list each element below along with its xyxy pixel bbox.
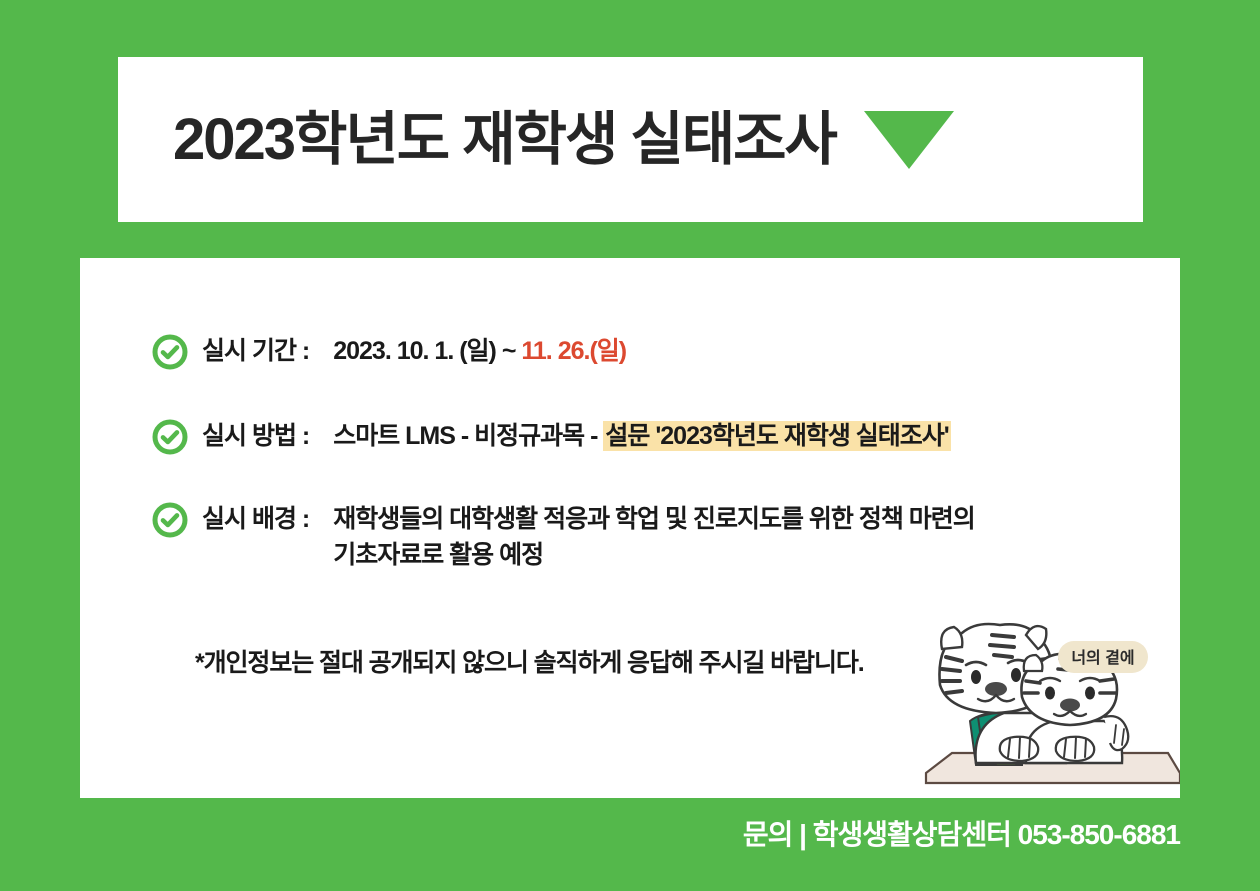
method-path-text: 스마트 LMS - 비정규과목 - [333,422,603,450]
info-row-period: 실시 기간 : 2023. 10. 1. (일) ~ 11. 26.(일) [152,333,1162,370]
info-row-purpose: 실시 배경 : 재학생들의 대학생활 적응과 학업 및 진로지도를 위한 정책 … [152,501,1162,574]
check-circle-icon [152,419,188,455]
check-circle-icon [152,334,188,370]
period-start-text: 2023. 10. 1. (일) ~ [333,337,521,365]
info-row-value-period: 2023. 10. 1. (일) ~ 11. 26.(일) [333,333,626,369]
method-survey-name-text: 설문 '2023학년도 재학생 실태조사' [603,421,950,451]
purpose-line-1: 재학생들의 대학생활 적응과 학업 및 진로지도를 위한 정책 마련의 [333,501,975,537]
info-row-label-purpose: 실시 배경 : [202,501,309,537]
speech-bubble-text: 너의 곁에 [1071,649,1134,667]
info-row-value-purpose: 재학생들의 대학생활 적응과 학업 및 진로지도를 위한 정책 마련의 기초자료… [333,501,975,574]
triangle-down-icon [864,111,954,169]
main-panel: 실시 기간 : 2023. 10. 1. (일) ~ 11. 26.(일) 실시… [80,258,1180,798]
purpose-line-2: 기초자료로 활용 예정 [333,537,975,573]
info-row-value-method: 스마트 LMS - 비정규과목 - 설문 '2023학년도 재학생 실태조사' [333,418,951,454]
info-rows: 실시 기간 : 2023. 10. 1. (일) ~ 11. 26.(일) 실시… [152,333,1162,574]
footer-contact: 문의 | 학생생활상담센터 053-850-6881 [743,813,1180,853]
tiger-mascots-illustration: 너의 곁에 [918,613,1180,798]
check-circle-icon [152,502,188,538]
period-end-text: 11. 26.(일) [521,337,626,365]
page-title: 2023학년도 재학생 실태조사 [173,111,836,169]
privacy-note: *개인정보는 절대 공개되지 않으니 솔직하게 응답해 주시길 바랍니다. [195,643,864,679]
info-row-label-method: 실시 방법 : [202,418,309,454]
title-bar: 2023학년도 재학생 실태조사 [118,57,1143,222]
info-row-label-period: 실시 기간 : [202,333,309,369]
info-row-method: 실시 방법 : 스마트 LMS - 비정규과목 - 설문 '2023학년도 재학… [152,418,1162,455]
